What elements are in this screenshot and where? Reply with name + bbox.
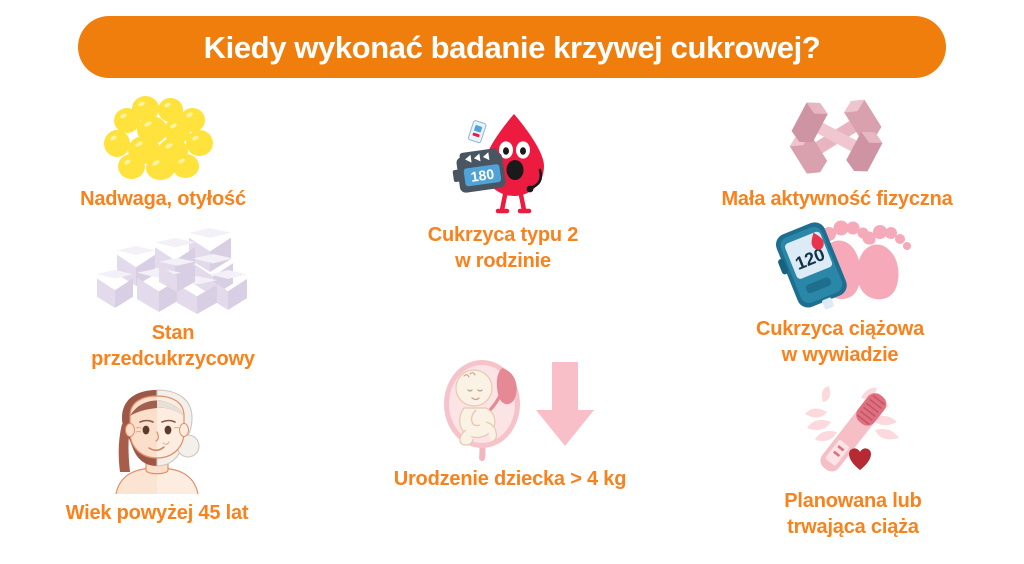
risk-item-low-activity-label: Mała aktywność fizyczna	[721, 186, 952, 212]
risk-item-age: Wiek powyżej 45 lat	[22, 388, 292, 526]
risk-item-birth-weight-label: Urodzenie dziecka > 4 kg	[394, 466, 627, 492]
risk-item-gestational-diabetes-label: Cukrzyca ciążowa w wywiadzie	[756, 316, 924, 369]
blood-drop-glucometer-icon: 180	[444, 108, 562, 216]
svg-text:180: 180	[470, 166, 496, 185]
page-title: Kiedy wykonać badanie krzywej cukrowej?	[204, 32, 821, 63]
fat-cells-icon	[104, 96, 222, 180]
risk-item-low-activity: Mała aktywność fizyczna	[678, 94, 996, 212]
sugar-cubes-icon	[97, 228, 249, 314]
aging-woman-icon	[96, 388, 218, 494]
risk-item-birth-weight: Urodzenie dziecka > 4 kg	[350, 356, 670, 492]
risk-item-family-history-label: Cukrzyca typu 2 w rodzinie	[428, 222, 578, 275]
risk-item-age-label: Wiek powyżej 45 lat	[66, 500, 249, 526]
fetus-womb-arrow-icon	[424, 356, 596, 460]
risk-item-prediabetes: Stan przedcukrzycowy	[48, 228, 298, 373]
title-banner: Kiedy wykonać badanie krzywej cukrowej?	[78, 16, 946, 78]
risk-item-overweight-label: Nadwaga, otyłość	[80, 186, 246, 212]
risk-item-pregnancy-label: Planowana lub trwająca ciąża	[784, 488, 921, 541]
risk-item-overweight: Nadwaga, otyłość	[38, 96, 288, 212]
risk-item-pregnancy: Planowana lub trwająca ciąża	[718, 388, 988, 541]
risk-item-gestational-diabetes: 120 Cukrzyca ciążowa w wywiadzie	[700, 212, 980, 369]
infographic-root: Kiedy wykonać badanie krzywej cukrowej? …	[0, 0, 1024, 564]
risk-item-family-history: 180 Cukrzyca typu 2 w rodzinie	[378, 108, 628, 275]
risk-item-prediabetes-label: Stan przedcukrzycowy	[91, 320, 255, 373]
glucometer-baby-feet-icon: 120	[767, 212, 913, 310]
pregnancy-test-icon	[793, 388, 913, 482]
dumbbells-icon	[774, 94, 900, 180]
